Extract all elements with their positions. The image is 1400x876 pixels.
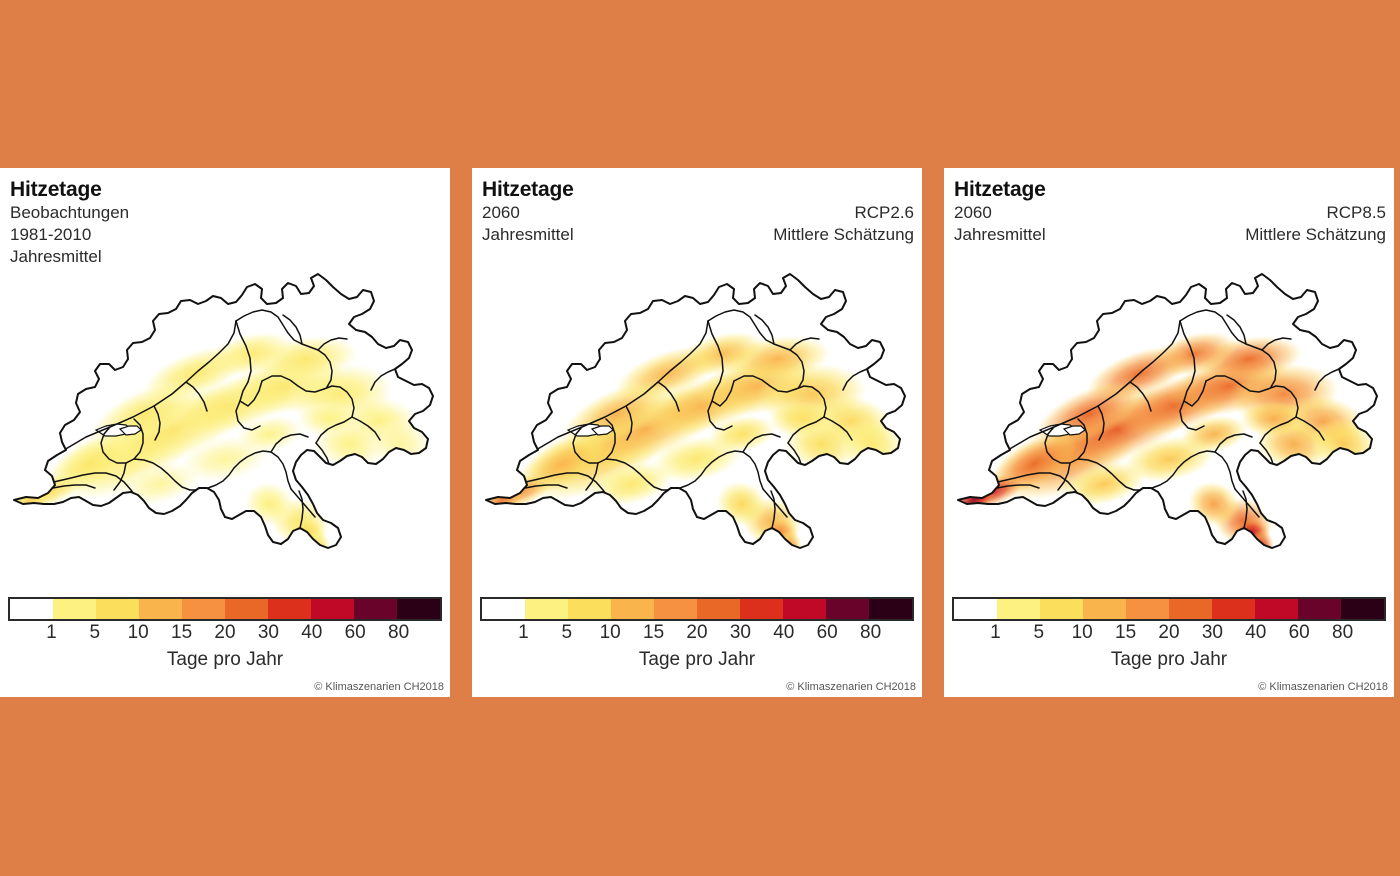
colorbar-legend: 1510152030406080 Tage pro Jahr — [480, 597, 914, 671]
colorbar-segment-6 — [268, 599, 311, 619]
colorbar-segment-2 — [568, 599, 611, 619]
colorbar-segment-6 — [740, 599, 783, 619]
colorbar-tick-labels: 1510152030406080 — [952, 622, 1386, 648]
colorbar-segment-7 — [1255, 599, 1298, 619]
panel-subrow-1: 2060 RCP2.6 — [482, 202, 914, 224]
panel-sub-left-2: 1981-2010 — [10, 224, 91, 246]
colorbar-segment-9 — [1341, 599, 1384, 619]
colorbar-segment-9 — [397, 599, 440, 619]
colorbar-segment-7 — [311, 599, 354, 619]
panel-sub-left-1: 2060 — [954, 202, 992, 224]
map-svg — [944, 254, 1394, 574]
colorbar-tick-60: 60 — [1289, 622, 1310, 644]
colorbar-segment-7 — [783, 599, 826, 619]
panel-sub-left-1: Beobachtungen — [10, 202, 129, 224]
colorbar-segment-1 — [53, 599, 96, 619]
colorbar-tick-30: 30 — [730, 622, 751, 644]
colorbar-segment-4 — [654, 599, 697, 619]
colorbar-legend: 1510152030406080 Tage pro Jahr — [952, 597, 1386, 671]
colorbar-tick-80: 80 — [388, 622, 409, 644]
colorbar-segment-0 — [954, 599, 997, 619]
colorbar-segment-9 — [869, 599, 912, 619]
map-svg — [0, 254, 450, 574]
colorbar-segment-5 — [1169, 599, 1212, 619]
colorbar-tick-15: 15 — [171, 622, 192, 644]
colorbar-tick-80: 80 — [860, 622, 881, 644]
colorbar-tick-20: 20 — [214, 622, 235, 644]
copyright-credit: © Klimaszenarien CH2018 — [786, 681, 916, 693]
panel-header: Hitzetage 2060 RCP2.6 Jahresmittel Mittl… — [482, 178, 914, 250]
colorbar-segment-8 — [1298, 599, 1341, 619]
map-svg — [472, 254, 922, 574]
colorbar-tick-labels: 1510152030406080 — [480, 622, 914, 648]
map-panel-rcp26-2060: Hitzetage 2060 RCP2.6 Jahresmittel Mittl… — [472, 168, 922, 697]
colorbar-segment-4 — [182, 599, 225, 619]
switzerland-map — [0, 254, 450, 574]
colorbar-segment-8 — [826, 599, 869, 619]
panel-sub-right-1: RCP8.5 — [1326, 202, 1386, 224]
figure-panels: Hitzetage Beobachtungen 1981-2010 Jahres… — [0, 168, 1400, 697]
map-panel-rcp85-2060: Hitzetage 2060 RCP8.5 Jahresmittel Mittl… — [944, 168, 1394, 697]
colorbar-gradient — [952, 597, 1386, 621]
colorbar-segment-3 — [611, 599, 654, 619]
colorbar-segment-0 — [10, 599, 53, 619]
panel-subrow-2: Jahresmittel Mittlere Schätzung — [954, 224, 1386, 246]
colorbar-segment-3 — [1083, 599, 1126, 619]
colorbar-tick-5: 5 — [90, 622, 101, 644]
panel-subrow-2: 1981-2010 — [10, 224, 442, 246]
colorbar-tick-80: 80 — [1332, 622, 1353, 644]
copyright-credit: © Klimaszenarien CH2018 — [1258, 681, 1388, 693]
colorbar-segment-5 — [225, 599, 268, 619]
colorbar-tick-1: 1 — [46, 622, 57, 644]
switzerland-map — [944, 254, 1394, 574]
colorbar-tick-labels: 1510152030406080 — [8, 622, 442, 648]
colorbar-tick-10: 10 — [1072, 622, 1093, 644]
colorbar-segment-1 — [525, 599, 568, 619]
colorbar-tick-15: 15 — [643, 622, 664, 644]
colorbar-segment-2 — [1040, 599, 1083, 619]
colorbar-tick-20: 20 — [686, 622, 707, 644]
colorbar-tick-15: 15 — [1115, 622, 1136, 644]
panel-header: Hitzetage Beobachtungen 1981-2010 Jahres… — [10, 178, 442, 250]
panel-subrow-2: Jahresmittel Mittlere Schätzung — [482, 224, 914, 246]
panel-title: Hitzetage — [954, 178, 1386, 202]
colorbar-unit-label: Tage pro Jahr — [8, 649, 442, 671]
panel-subrow-1: 2060 RCP8.5 — [954, 202, 1386, 224]
panel-sub-left-2: Jahresmittel — [482, 224, 574, 246]
colorbar-tick-5: 5 — [1034, 622, 1045, 644]
colorbar-tick-1: 1 — [518, 622, 529, 644]
panel-title: Hitzetage — [482, 178, 914, 202]
colorbar-tick-20: 20 — [1158, 622, 1179, 644]
colorbar-tick-40: 40 — [301, 622, 322, 644]
colorbar-gradient — [480, 597, 914, 621]
copyright-credit: © Klimaszenarien CH2018 — [314, 681, 444, 693]
colorbar-segment-3 — [139, 599, 182, 619]
panel-sub-right-2: Mittlere Schätzung — [1245, 224, 1386, 246]
colorbar-legend: 1510152030406080 Tage pro Jahr — [8, 597, 442, 671]
colorbar-segment-2 — [96, 599, 139, 619]
panel-sub-right-1: RCP2.6 — [854, 202, 914, 224]
colorbar-segment-5 — [697, 599, 740, 619]
colorbar-tick-10: 10 — [128, 622, 149, 644]
panel-sub-right-2: Mittlere Schätzung — [773, 224, 914, 246]
colorbar-gradient — [8, 597, 442, 621]
panel-sub-left-1: 2060 — [482, 202, 520, 224]
colorbar-segment-8 — [354, 599, 397, 619]
colorbar-tick-1: 1 — [990, 622, 1001, 644]
colorbar-tick-40: 40 — [773, 622, 794, 644]
colorbar-tick-60: 60 — [817, 622, 838, 644]
panel-header: Hitzetage 2060 RCP8.5 Jahresmittel Mittl… — [954, 178, 1386, 250]
colorbar-segment-1 — [997, 599, 1040, 619]
panel-subrow-1: Beobachtungen — [10, 202, 442, 224]
map-panel-observations: Hitzetage Beobachtungen 1981-2010 Jahres… — [0, 168, 450, 697]
switzerland-map — [472, 254, 922, 574]
panel-sub-left-2: Jahresmittel — [954, 224, 1046, 246]
colorbar-segment-4 — [1126, 599, 1169, 619]
colorbar-tick-5: 5 — [562, 622, 573, 644]
panel-title: Hitzetage — [10, 178, 442, 202]
colorbar-tick-40: 40 — [1245, 622, 1266, 644]
colorbar-unit-label: Tage pro Jahr — [480, 649, 914, 671]
colorbar-tick-10: 10 — [600, 622, 621, 644]
colorbar-unit-label: Tage pro Jahr — [952, 649, 1386, 671]
colorbar-segment-0 — [482, 599, 525, 619]
colorbar-segment-6 — [1212, 599, 1255, 619]
colorbar-tick-30: 30 — [258, 622, 279, 644]
colorbar-tick-60: 60 — [345, 622, 366, 644]
colorbar-tick-30: 30 — [1202, 622, 1223, 644]
